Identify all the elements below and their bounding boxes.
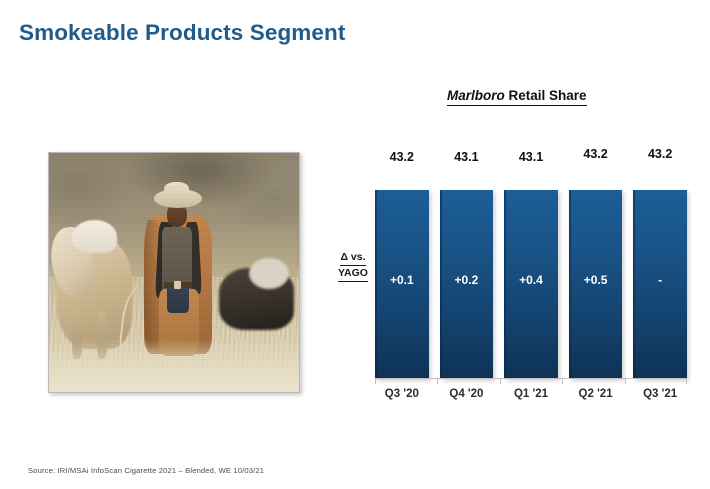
bar-q2-21[interactable]: +0.5 (569, 190, 623, 379)
bar-value-label: 43.2 (569, 147, 623, 161)
chart-plot-area: 43.2 +0.1 43.1 +0.2 43.1 +0.4 (375, 145, 687, 379)
photo-horse-mane (72, 220, 117, 253)
bar-value-label: 43.1 (504, 150, 558, 164)
bar-group: 43.2 +0.1 43.1 +0.2 43.1 +0.4 (375, 172, 687, 379)
bar-value-label: 43.1 (440, 150, 494, 164)
bar-q4-20[interactable]: +0.2 (440, 190, 494, 379)
bar-delta-label: - (633, 273, 687, 287)
bar-q1-21[interactable]: +0.4 (504, 190, 558, 379)
source-footnote: Source: IRI/MSAi InfoScan Cigarette 2021… (28, 466, 264, 475)
bar-slot-q1-21: 43.1 +0.4 (504, 172, 558, 379)
bar-slot-q4-20: 43.1 +0.2 (440, 172, 494, 379)
bar-delta-label: +0.1 (375, 273, 429, 287)
bar-delta-label: +0.5 (569, 273, 623, 287)
delta-vs-yago-label: Δ vs. YAGO (330, 250, 376, 282)
chart-title: Marlboro Retail Share (447, 88, 587, 106)
photo-cowboy-jeans (167, 284, 190, 313)
bar-value-label: 43.2 (375, 150, 429, 164)
marlboro-man-photo (48, 152, 300, 393)
delta-vs-yago-line2: YAGO (338, 266, 368, 282)
delta-vs-yago-line1: Δ vs. (340, 250, 365, 266)
bar-slot-q2-21: 43.2 +0.5 (569, 172, 623, 379)
x-label-q4-20: Q4 '20 (440, 388, 494, 400)
photo-foreground-grass (49, 339, 299, 392)
page-title: Smokeable Products Segment (19, 20, 345, 46)
marlboro-retail-share-chart: Δ vs. YAGO 43.2 +0.1 43.1 +0.2 (330, 145, 695, 405)
bar-value-label: 43.2 (633, 147, 687, 161)
bar-slot-q3-21: 43.2 - (633, 172, 687, 379)
photo-belt-buckle (174, 281, 181, 289)
bar-q3-21[interactable]: - (633, 190, 687, 379)
bar-q3-20[interactable]: +0.1 (375, 190, 429, 379)
chart-title-brand: Marlboro (447, 88, 505, 103)
x-label-q3-20: Q3 '20 (375, 388, 429, 400)
photo-canvas (49, 153, 299, 392)
bar-delta-label: +0.2 (440, 273, 494, 287)
photo-white-horse-patch (249, 258, 289, 289)
x-axis-category-labels: Q3 '20 Q4 '20 Q1 '21 Q2 '21 Q3 '21 (375, 383, 687, 405)
x-label-q1-21: Q1 '21 (504, 388, 558, 400)
x-label-q2-21: Q2 '21 (569, 388, 623, 400)
slide-root: Smokeable Products Segment (0, 0, 710, 489)
chart-title-rest: Retail Share (505, 88, 587, 103)
bar-delta-label: +0.4 (504, 273, 558, 287)
x-label-q3-21: Q3 '21 (633, 388, 687, 400)
photo-cowboy-hat-brim (154, 189, 202, 208)
bar-slot-q3-20: 43.2 +0.1 (375, 172, 429, 379)
